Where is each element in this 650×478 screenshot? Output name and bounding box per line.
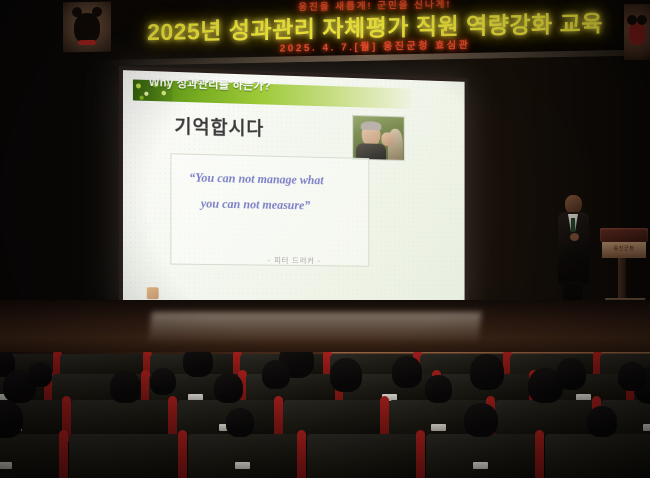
auditorium-seat xyxy=(426,434,538,478)
audience-head xyxy=(425,375,452,403)
seat-armrest xyxy=(535,430,544,478)
seat-armrest xyxy=(416,430,425,478)
floor-reflection xyxy=(148,312,481,342)
podium-sign: 옹진군청 xyxy=(602,242,646,258)
seat-number-plate xyxy=(235,462,250,469)
auditorium-seat xyxy=(0,434,62,478)
led-banner: 옹진을 새롭게! 군민을 신나게! 2025년 성과관리 자체평가 직원 역량강… xyxy=(100,0,650,66)
audience-head xyxy=(214,373,243,403)
podium-sign-text: 옹진군청 xyxy=(602,245,646,252)
seat-number-plate xyxy=(431,424,446,431)
mascot-figure-icon xyxy=(624,4,650,60)
seat-armrest xyxy=(59,430,68,478)
auditorium-seat xyxy=(69,434,181,478)
audience-head xyxy=(28,362,52,387)
audience-head xyxy=(110,371,141,403)
presentation-slide: Why 성과관리를 하는가? 기억합시다 “You can not manage… xyxy=(123,70,465,307)
slide-title: 기억합시다 xyxy=(174,112,264,141)
presenter-standing xyxy=(556,195,592,310)
bear-mascot-icon xyxy=(63,2,111,53)
audience-head xyxy=(150,368,176,395)
seat-armrest xyxy=(178,430,187,478)
audience-head xyxy=(392,356,422,388)
audience-head xyxy=(330,358,362,392)
seat-armrest xyxy=(297,430,306,478)
audience-head xyxy=(464,403,498,438)
presenter-hand xyxy=(570,233,579,241)
auditorium-seat xyxy=(545,434,650,478)
peter-drucker-photo xyxy=(352,115,404,161)
seat-number-plate xyxy=(643,424,650,431)
projection-screen: Why 성과관리를 하는가? 기억합시다 “You can not manage… xyxy=(119,66,468,311)
quote-line-2: you can not measure” xyxy=(201,197,310,214)
audience-head xyxy=(262,360,290,389)
audience-head xyxy=(226,408,254,437)
auditorium-photo: 옹진을 새롭게! 군민을 신나게! 2025년 성과관리 자체평가 직원 역량강… xyxy=(0,0,650,478)
seat-number-plate xyxy=(0,462,12,469)
audience-head xyxy=(470,354,504,390)
organization-logo-icon xyxy=(147,287,159,299)
auditorium-seat xyxy=(188,434,300,478)
podium-top xyxy=(600,228,648,242)
quote-line-1: “You can not manage what xyxy=(189,171,324,189)
quote-box: “You can not manage what you can not mea… xyxy=(170,153,369,266)
podium: 옹진군청 xyxy=(600,228,648,310)
audience-head xyxy=(618,362,646,391)
seat-number-plate xyxy=(473,462,488,469)
podium-stem xyxy=(618,258,626,302)
audience-head xyxy=(587,406,617,437)
auditorium-seat xyxy=(307,434,419,478)
audience-head xyxy=(183,352,213,377)
seated-audience xyxy=(0,352,650,478)
presenter-tie xyxy=(571,218,575,232)
audience-head xyxy=(556,358,586,390)
